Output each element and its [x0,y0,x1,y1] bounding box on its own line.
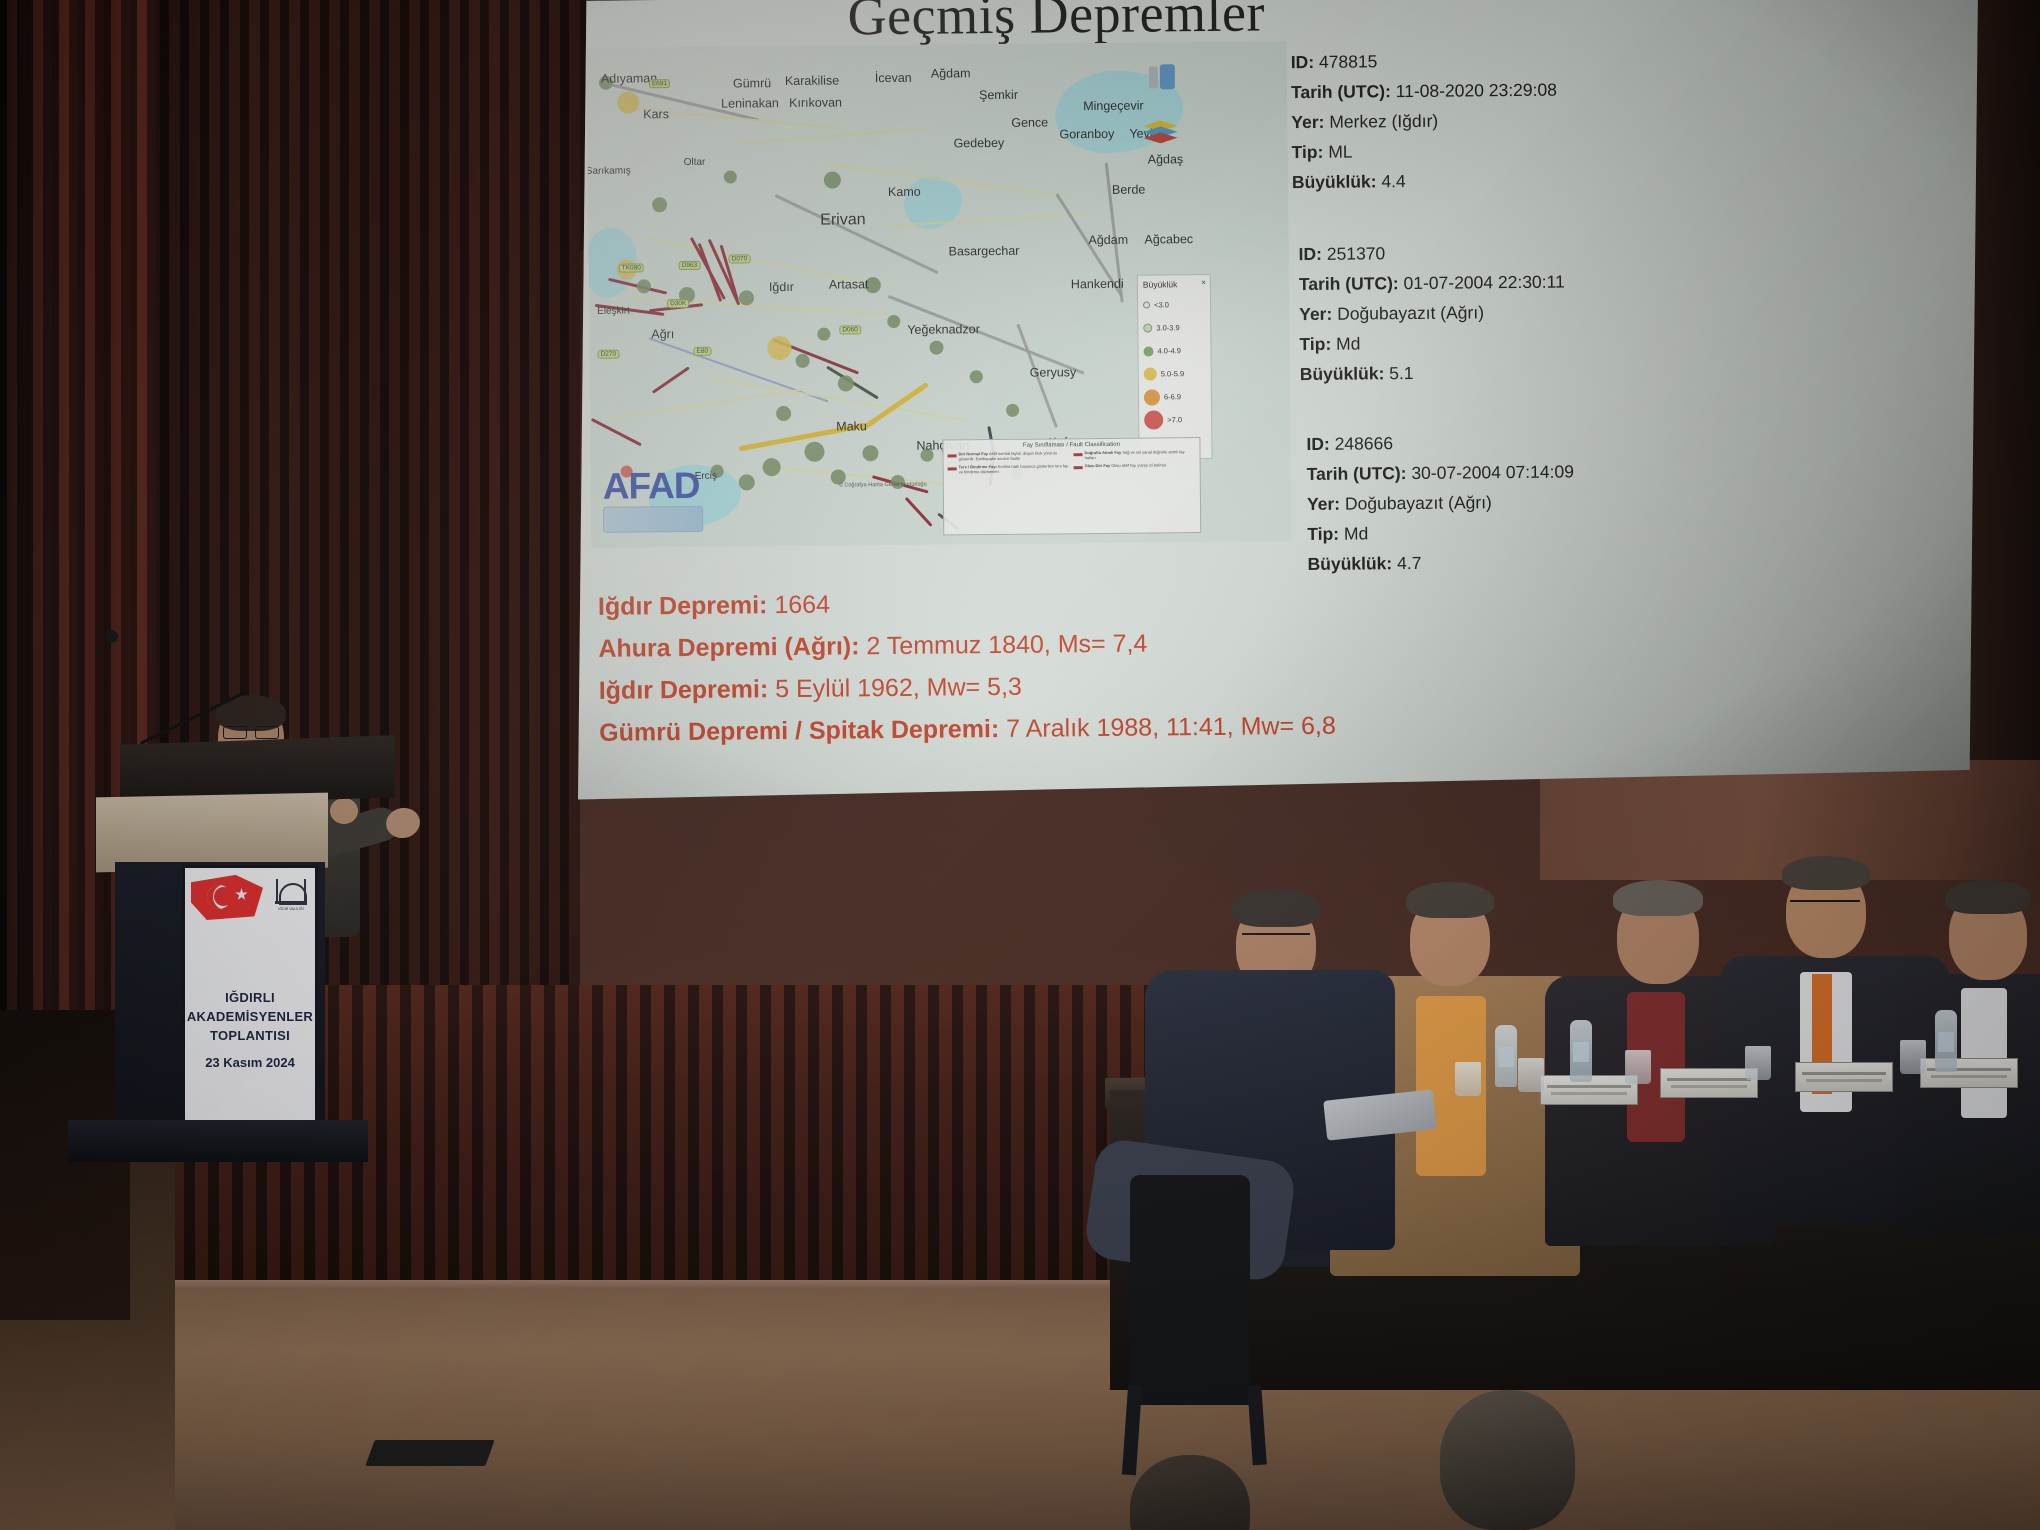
water-bottle [1935,1010,1957,1072]
historic-label: Ahura Depremi (Ağrı): [598,632,859,663]
record-id-label: ID: [1291,52,1315,72]
fault-legend-label: Olası Diri Fay [1085,463,1111,468]
record-magnitude-row: Büyüklük: 4.7 [1307,546,1607,579]
record-place-value: Doğubayazıt (Ağrı) [1337,302,1484,323]
slide-title: Geçmiş Depremler [846,0,1267,47]
record-type-row: Tip: Md [1307,516,1607,549]
legend-close-icon[interactable]: × [1201,278,1206,287]
fault-legend-desc: Olası aktif fay, yüzey izi belirsiz [1111,462,1166,468]
map-label: Maku [836,419,867,433]
fault-legend-item: Ters / Bindirme Fayı Kırılma hattı boyun… [948,463,1070,474]
record-place-label: Yer: [1307,494,1340,514]
legend-item: 4.0-4.9 [1143,339,1205,363]
earthquake-record: ID: 251370 Tarih (UTC): 01-07-2004 22:30… [1298,236,1599,389]
record-place-row: Yer: Doğubayazıt (Ağrı) [1307,486,1607,519]
map-layers-icon[interactable] [1149,62,1175,92]
quake-marker [929,341,943,355]
record-magnitude-value: 4.4 [1381,171,1406,191]
governorship-emblem-icon: IĞDIR VALİLİĞİ [271,877,311,919]
record-magnitude-label: Büyüklük: [1300,363,1385,384]
road-shield: TK080 [619,263,644,272]
record-type-value: ML [1328,142,1353,162]
map-label: Gümrü [733,76,771,90]
earthquake-map: Adıyaman Gümrü Leninakan Karakilise Kırı… [587,41,1292,548]
panelist-hair [1613,880,1703,916]
map-label: Artasat [829,277,869,291]
quake-marker [776,406,791,421]
legend-item: >7.0 [1144,408,1206,432]
record-type-value: Md [1344,523,1369,543]
record-type-label: Tip: [1307,524,1339,544]
record-date-value: 11-08-2020 23:29:08 [1396,80,1557,102]
historic-value: 5 Eylül 1962, Mw= 5,3 [768,673,1022,703]
podium-event-banner: IĞDIR VALİLİĞİ IĞDIRLI AKADEMİSYENLER TO… [182,865,318,1136]
drinking-glass [1745,1046,1771,1080]
map-label: Sarıkamış [587,166,631,177]
conference-photo: Geçmiş Depremler [0,0,2040,1530]
afad-logo-bar [603,506,703,533]
road-shield: D963 [679,261,701,270]
record-magnitude-label: Büyüklük: [1292,171,1377,192]
map-label: Geryusy [1030,365,1077,379]
earthquake-record: ID: 478815 Tarih (UTC): 11-08-2020 23:29… [1291,44,1592,197]
quake-marker [1006,404,1019,417]
road-shield: D070 [729,254,751,263]
map-label: Goranboy [1059,127,1114,142]
road-shield: D270 [597,350,619,359]
road-shield: E80 [693,347,711,356]
map-label: Leninakan [721,96,779,111]
map-fault-major [860,382,929,431]
legend-label: 6-6.9 [1164,392,1181,401]
road-shield: D060 [839,325,861,334]
record-id-row: ID: 248666 [1306,426,1606,459]
drinking-glass [1518,1058,1544,1092]
road-shield: E691 [649,79,670,88]
map-label: Ağcabec [1144,232,1193,246]
quake-marker [763,458,781,476]
map-label: Ağdam [931,66,971,80]
historic-label: Gümrü Depremi / Spitak Depremi: [599,715,999,747]
record-magnitude-value: 4.7 [1397,553,1422,573]
record-date-row: Tarih (UTC): 11-08-2020 23:29:08 [1291,74,1591,107]
water-bottle [1570,1020,1592,1082]
afad-logo: AFAD [603,467,704,533]
legend-swatch-icon [1143,324,1152,333]
record-id-label: ID: [1299,244,1323,264]
map-fault [652,366,690,393]
record-date-label: Tarih (UTC): [1299,273,1399,294]
record-type-row: Tip: ML [1291,134,1591,167]
record-place-label: Yer: [1299,304,1332,324]
map-label: Oltar [684,157,706,168]
map-label: Yeğeknadzor [907,322,980,337]
quake-marker [739,474,755,490]
record-date-label: Tarih (UTC): [1291,81,1391,102]
record-date-value: 01-07-2004 22:30:11 [1403,272,1564,294]
legend-label: <3.0 [1154,300,1169,309]
record-type-row: Tip: Md [1299,326,1599,359]
record-place-row: Yer: Doğubayazıt (Ağrı) [1299,296,1599,329]
record-magnitude-row: Büyüklük: 4.4 [1292,164,1592,197]
legend-item: 5.0-5.9 [1144,362,1206,386]
legend-swatch-icon [1143,346,1153,356]
banner-date: 23 Kasım 2024 [185,1055,315,1070]
map-label: Ağdam [1088,233,1128,247]
record-place-row: Yer: Merkez (Iğdır) [1291,104,1591,137]
nameplate [1795,1062,1893,1092]
quake-marker [652,197,667,212]
map-label: Eleşkirt [597,306,630,317]
quake-marker [637,279,651,293]
map-label: Kamo [888,185,921,199]
legend-label: >7.0 [1167,415,1182,424]
historic-earthquake-list: Iğdır Depremi: 1664 Ahura Depremi (Ağrı)… [598,575,1700,754]
map-label: Hankendi [1071,277,1124,292]
quake-marker [824,171,841,188]
podium-upper-body [96,793,328,873]
map-label: Kırıkovan [789,95,842,110]
earthquake-record: ID: 248666 Tarih (UTC): 30-07-2004 07:14… [1306,426,1607,579]
quake-marker [804,442,824,462]
banner-line-2: AKADEMİSYENLER [185,1007,315,1026]
magnitude-legend: Büyüklük <3.0 3.0-3.9 4.0-4.9 [1137,274,1213,460]
banner-line-3: TOPLANTISI [185,1026,315,1045]
legend-label: 3.0-3.9 [1156,323,1179,332]
banner-line-1: IĞDIRLI [185,988,315,1007]
fault-swatch-icon [1074,453,1083,456]
turkish-flag-icon [191,874,263,920]
map-basemap-icon[interactable] [1143,120,1177,150]
fault-legend: Fay Sınıflaması / Fault Classification D… [942,437,1201,535]
map-label: Şemkir [979,88,1018,102]
map-label: Gence [1011,115,1048,129]
magnitude-legend-title: Büyüklük [1143,279,1205,290]
quake-marker [739,290,754,305]
record-id-row: ID: 478815 [1291,44,1591,77]
map-label: Ağdaş [1148,152,1184,166]
fault-legend-item: Doğrultu Atımlı Fay Sağ ve sol yanal doğ… [1073,449,1195,460]
historic-label: Iğdır Depremi: [598,591,768,621]
record-type-value: Md [1336,334,1361,354]
fault-swatch-icon [948,467,957,470]
map-label: Karakilise [785,73,839,88]
laptop-on-floor [365,1440,494,1466]
record-id-row: ID: 251370 [1298,236,1598,269]
historic-value: 1664 [767,591,830,620]
record-id-value: 478815 [1319,51,1378,72]
map-label: Iğdır [769,280,794,294]
presentation-slide: Geçmiş Depremler [578,0,1986,806]
left-dark-panel [0,1010,130,1320]
drinking-glass [1900,1040,1926,1074]
historic-value: 7 Aralık 1988, 11:41, Mw= 6,8 [999,712,1336,743]
chair-back [1130,1175,1250,1405]
record-id-label: ID: [1306,434,1330,454]
emblem-label: IĞDIR VALİLİĞİ [271,907,311,912]
quake-marker [862,445,878,461]
legend-item: 6-6.9 [1144,385,1206,409]
record-place-label: Yer: [1291,112,1324,132]
panelist-shirt [1961,988,2007,1118]
record-type-label: Tip: [1299,334,1331,354]
map-road [738,127,928,144]
quake-marker [767,336,791,360]
map-label: Mingeçevir [1083,99,1144,114]
map-label: Kars [643,107,669,121]
quake-marker [838,375,854,391]
record-type-label: Tip: [1292,142,1324,162]
legend-swatch-icon [1144,410,1163,429]
nameplate [1660,1068,1758,1098]
quake-marker [817,328,830,341]
panelist-hair [1782,856,1870,890]
microphone-head-icon [105,630,118,643]
fault-swatch-icon [948,454,957,457]
quake-marker [970,370,983,383]
audience-head [1440,1390,1575,1530]
record-magnitude-label: Büyüklük: [1307,553,1392,574]
record-date-row: Tarih (UTC): 30-07-2004 07:14:09 [1307,456,1607,489]
record-magnitude-value: 5.1 [1389,363,1414,383]
fault-legend-item: Olası Diri Fay Olası aktif fay, yüzey iz… [1074,462,1196,469]
map-label: Erivan [820,211,866,229]
map-label: Berde [1112,183,1145,197]
quake-marker [887,315,900,328]
record-date-row: Tarih (UTC): 01-07-2004 22:30:11 [1299,266,1599,299]
map-label: Basargechar [948,244,1019,259]
map-label: İcevan [875,71,912,85]
podium-base [68,1120,368,1162]
drinking-glass [1625,1050,1651,1084]
record-date-label: Tarih (UTC): [1307,463,1407,484]
record-place-value: Merkez (Iğdır) [1329,111,1438,132]
legend-item: <3.0 [1143,293,1205,317]
legend-item: 3.0-3.9 [1143,316,1205,340]
record-id-value: 251370 [1327,243,1386,264]
record-date-value: 30-07-2004 07:14:09 [1411,461,1574,483]
historic-label: Iğdır Depremi: [599,675,769,705]
legend-swatch-icon [1144,367,1157,380]
legend-label: 4.0-4.9 [1157,346,1180,355]
water-bottle [1495,1025,1517,1087]
banner-text: IĞDIRLI AKADEMİSYENLER TOPLANTISI 23 Kas… [185,988,315,1070]
legend-swatch-icon [1143,302,1150,309]
record-place-value: Doğubayazıt (Ağrı) [1345,492,1492,513]
drinking-glass [1455,1062,1481,1096]
panelist-hair [1945,880,2031,914]
projection-screen: Geçmiş Depremler [578,0,1978,806]
map-fault [591,418,642,446]
map-label: Gedebey [953,136,1004,150]
record-magnitude-row: Büyüklük: 5.1 [1300,356,1600,389]
legend-swatch-icon [1144,389,1160,405]
legend-label: 5.0-5.9 [1161,369,1184,378]
map-fault [905,497,933,527]
quake-marker [617,91,639,113]
fault-swatch-icon [1074,466,1083,469]
road-shield: D30K [667,299,689,308]
speaker-hand [330,798,358,824]
record-id-value: 248666 [1335,433,1394,454]
panelist-glasses-icon [1790,900,1860,914]
fault-legend-item: Diri Normal Fay Aktif normal faylar, düş… [947,450,1069,461]
fault-legend-title: Fay Sınıflaması / Fault Classification [947,441,1195,449]
historic-value: 2 Temmuz 1840, Ms= 7,4 [859,630,1147,661]
map-label: Ağrı [651,327,674,341]
map-credit: © Coğrafya Harita Genel Müdürlüğü [839,482,927,489]
quake-marker [796,354,810,368]
afad-logo-text: AFAD [603,467,703,505]
quake-marker [724,170,737,183]
